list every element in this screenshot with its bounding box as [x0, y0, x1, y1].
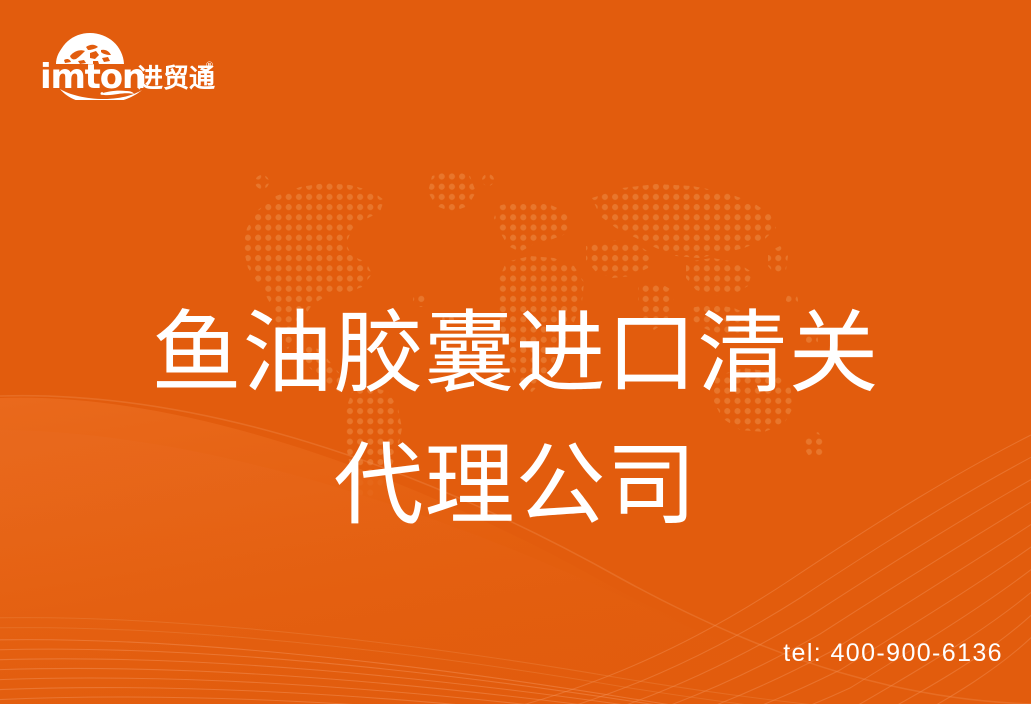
- headline: 鱼油胶囊进口清关 代理公司: [0, 288, 1031, 552]
- headline-line-2: 代理公司: [0, 420, 1031, 552]
- company-logo[interactable]: imton 进贸通 ®: [38, 26, 218, 100]
- headline-line-1: 鱼油胶囊进口清关: [0, 288, 1031, 420]
- promo-banner: imton 进贸通 ® 鱼油胶囊进口清关 代理公司 tel: 400-900-6…: [0, 0, 1031, 704]
- telephone-text: tel: 400-900-6136: [783, 639, 1003, 668]
- registered-trademark-icon: ®: [205, 61, 214, 71]
- logo-chinese-name: 进贸通: [137, 64, 215, 94]
- logo-wordmark: imton: [40, 57, 145, 97]
